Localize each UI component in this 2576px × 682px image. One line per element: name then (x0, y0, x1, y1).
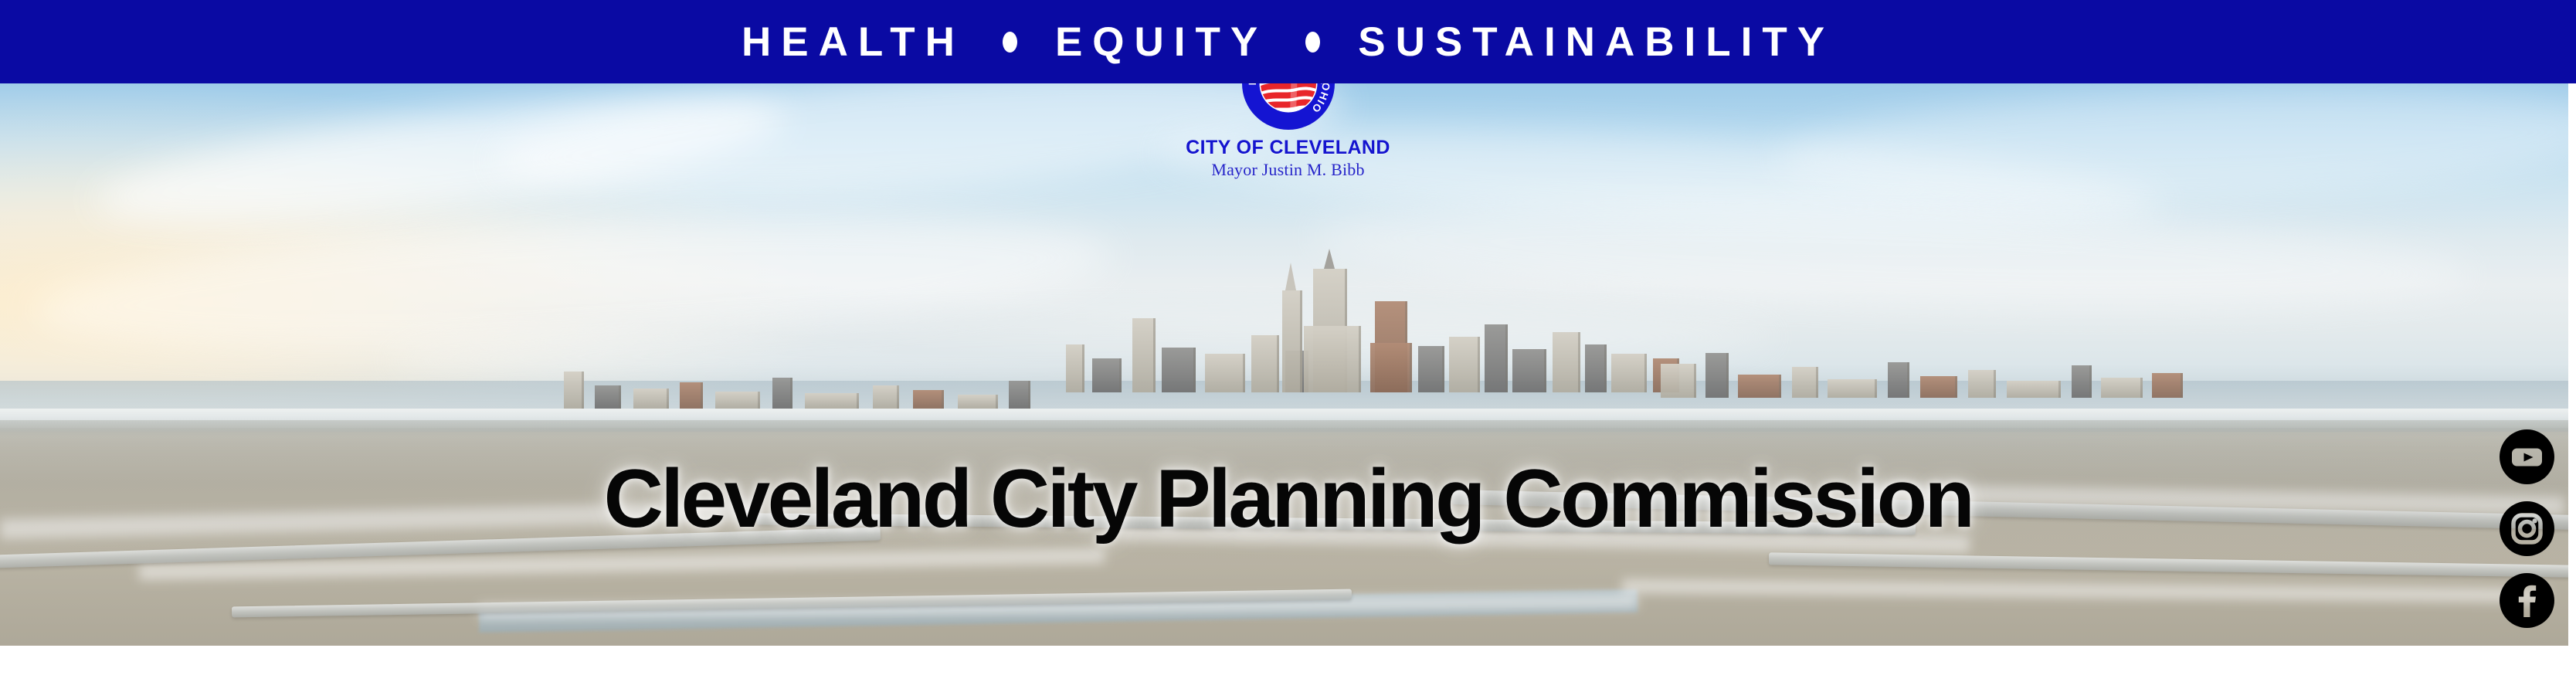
tagline-word-health: HEALTH (742, 22, 965, 63)
downtown-skyline (1058, 249, 1707, 392)
mayor-name: Mayor Justin M. Bibb (1126, 161, 1451, 178)
east-side-skyline (1661, 317, 2201, 398)
page-title: Cleveland City Planning Commission (0, 457, 2576, 540)
tagline-word-sustainability: SUSTAINABILITY (1358, 22, 1834, 63)
tagline-word-equity: EQUITY (1055, 22, 1268, 63)
facebook-icon[interactable] (2500, 573, 2554, 628)
tagline-bar: HEALTH EQUITY SUSTAINABILITY (0, 0, 2576, 83)
youtube-icon[interactable] (2500, 429, 2554, 484)
tagline-separator-dot-1 (1003, 32, 1017, 53)
tagline-separator-dot-2 (1305, 32, 1320, 53)
page-root: HEALTH EQUITY SUSTAINABILITY (0, 0, 2576, 682)
west-side-skyline (541, 355, 1050, 409)
social-links-rail (2499, 429, 2554, 628)
instagram-icon[interactable] (2500, 501, 2554, 556)
organization-name: CITY OF CLEVELAND (1126, 137, 1451, 158)
